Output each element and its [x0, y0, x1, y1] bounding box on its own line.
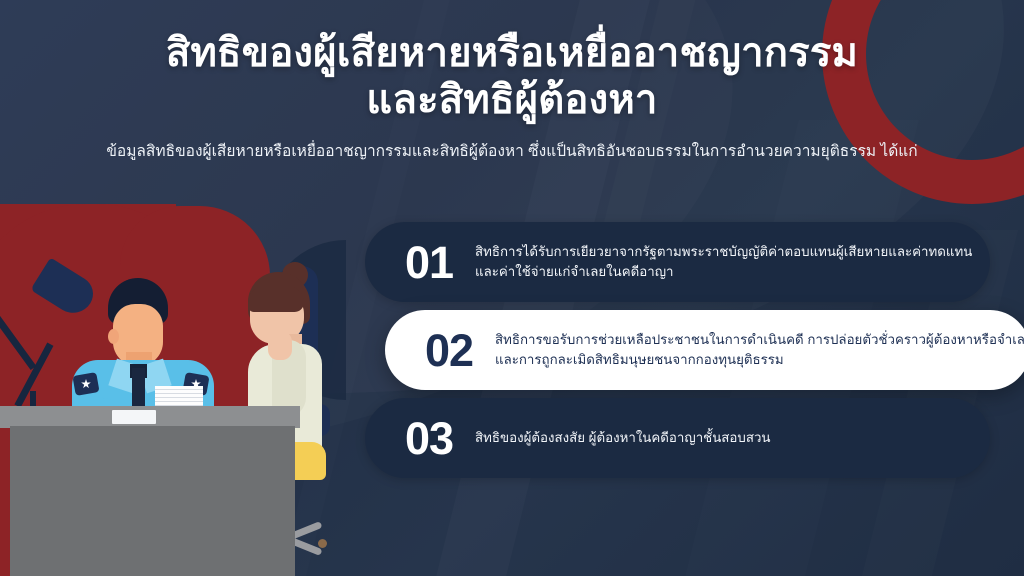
list-item-text-line-1: สิทธิการได้รับการเยียวยาจากรัฐตามพระราชบ… — [475, 242, 972, 262]
chair-caster — [318, 539, 327, 548]
list-item[interactable]: 02 สิทธิการขอรับการช่วยเหลือประชาชนในการ… — [385, 310, 1024, 390]
woman-hair-front — [248, 286, 304, 312]
woman-hand-on-face — [268, 330, 292, 360]
rights-list: 01 สิทธิการได้รับการเยียวยาจากรัฐตามพระร… — [365, 222, 1015, 486]
list-item-number: 01 — [387, 240, 471, 285]
list-item-text: สิทธิของผู้ต้องสงสัย ผู้ต้องหาในคดีอาญาช… — [471, 428, 777, 448]
list-item-number: 02 — [407, 328, 491, 373]
list-item-text-line-1: สิทธิการขอรับการช่วยเหลือประชาชนในการดำเ… — [495, 330, 1024, 350]
list-item-text-line-1: สิทธิของผู้ต้องสงสัย ผู้ต้องหาในคดีอาญาช… — [475, 428, 771, 448]
officer-ear — [108, 329, 119, 344]
list-item[interactable]: 01 สิทธิการได้รับการเยียวยาจากรัฐตามพระร… — [365, 222, 990, 302]
list-item-pill-02[interactable]: 02 สิทธิการขอรับการช่วยเหลือประชาชนในการ… — [385, 310, 1024, 390]
list-item-pill-01[interactable]: 01 สิทธิการได้รับการเยียวยาจากรัฐตามพระร… — [365, 222, 990, 302]
header: สิทธิของผู้เสียหายหรือเหยื่ออาชญากรรม แล… — [0, 0, 1024, 163]
list-item-pill-03[interactable]: 03 สิทธิของผู้ต้องสงสัย ผู้ต้องหาในคดีอา… — [365, 398, 990, 478]
infographic-canvas: สิทธิของผู้เสียหายหรือเหยื่ออาชญากรรม แล… — [0, 0, 1024, 576]
list-item-text: สิทธิการได้รับการเยียวยาจากรัฐตามพระราชบ… — [471, 242, 978, 282]
desk-front-panel — [10, 426, 295, 576]
page-title: สิทธิของผู้เสียหายหรือเหยื่ออาชญากรรม แล… — [0, 30, 1024, 124]
title-line-1: สิทธิของผู้เสียหายหรือเหยื่ออาชญากรรม — [0, 30, 1024, 77]
list-item-text: สิทธิการขอรับการช่วยเหลือประชาชนในการดำเ… — [491, 330, 1024, 370]
list-item[interactable]: 03 สิทธิของผู้ต้องสงสัย ผู้ต้องหาในคดีอา… — [365, 398, 990, 478]
list-item-text-line-2: และค่าใช้จ่ายแก่จำเลยในคดีอาญา — [475, 262, 972, 282]
list-item-text-line-2: และการถูกละเมิดสิทธิมนุษยชนจากกองทุนยุติ… — [495, 350, 1024, 370]
notepad-icon — [112, 410, 156, 424]
title-line-2: และสิทธิผู้ต้องหา — [0, 77, 1024, 124]
scene-illustration — [0, 204, 360, 576]
page-subtitle: ข้อมูลสิทธิของผู้เสียหายหรือเหยื่ออาชญาก… — [0, 142, 1024, 163]
list-item-number: 03 — [387, 416, 471, 461]
document-stack-icon — [155, 386, 203, 406]
